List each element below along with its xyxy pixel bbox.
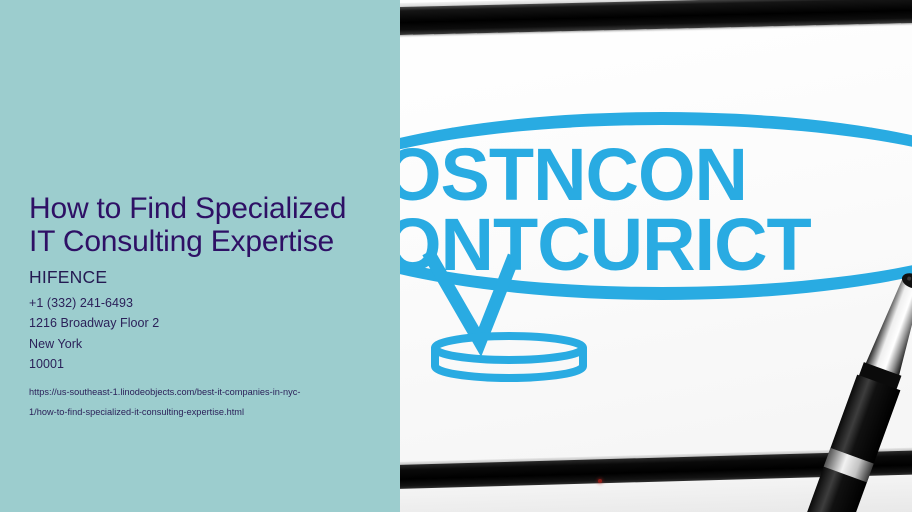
pen-icon xyxy=(800,262,912,512)
source-url[interactable]: https://us-southeast-1.linodeobjects.com… xyxy=(29,382,389,422)
cylinder-disc-icon xyxy=(428,332,590,388)
info-panel: How to Find Specialized IT Consulting Ex… xyxy=(0,0,400,512)
source-url-line-1[interactable]: https://us-southeast-1.linodeobjects.com… xyxy=(29,382,389,402)
info-content: How to Find Specialized IT Consulting Ex… xyxy=(29,192,389,422)
source-url-line-2[interactable]: 1/how-to-find-specialized-it-consulting-… xyxy=(29,402,389,422)
hero-photo: OSTNCON ONTCURICT xyxy=(400,0,912,512)
page-title: How to Find Specialized IT Consulting Ex… xyxy=(29,192,389,258)
board-wordmark: OSTNCON ONTCURICT xyxy=(400,140,912,280)
power-led-indicator xyxy=(598,479,602,483)
contact-phone[interactable]: +1 (332) 241-6493 xyxy=(29,293,389,313)
brand-name: HIFENCE xyxy=(29,267,389,287)
contact-zip: 10001 xyxy=(29,354,389,374)
contact-city: New York xyxy=(29,334,389,354)
contact-street: 1216 Broadway Floor 2 xyxy=(29,313,389,333)
promo-card: How to Find Specialized IT Consulting Ex… xyxy=(0,0,912,512)
